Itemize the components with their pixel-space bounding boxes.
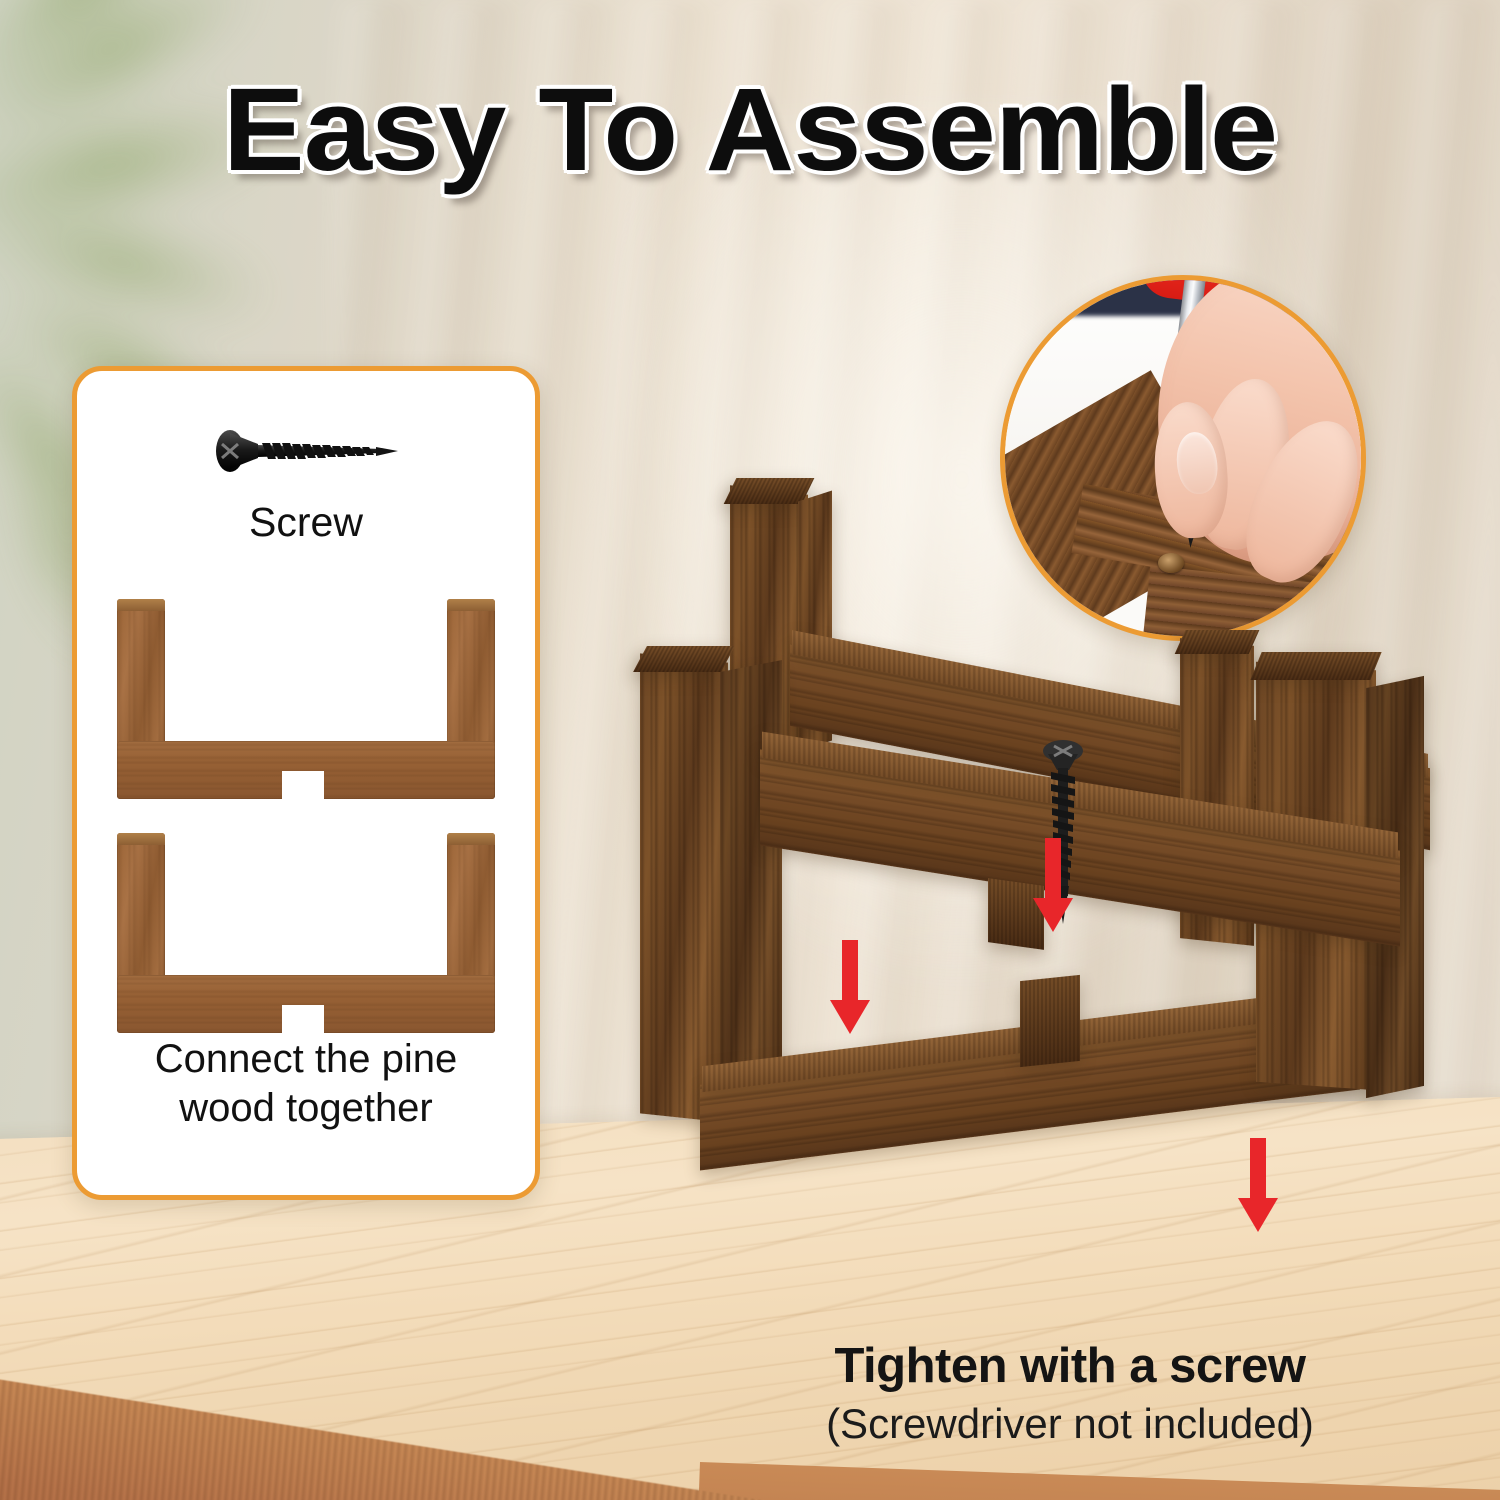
notch [282,771,324,799]
front-right-upright-top [1250,652,1381,680]
parts-card: Screw Conne [72,366,540,1200]
u-bracket-opening-up [117,599,495,799]
screw-label: Screw [77,499,535,546]
page-title: Easy To Assemble [0,62,1500,198]
caption-line-1: Connect the pine [77,1035,535,1084]
front-left-upright [640,653,728,1122]
wood-pieces-group [77,599,535,1033]
footer-caption-sub: (Screwdriver not included) [740,1400,1400,1448]
front-left-upright-inner [720,660,782,1112]
parts-card-caption: Connect the pine wood together [77,1035,535,1133]
screw-icon [206,423,406,484]
notch-tab-lower [1020,975,1080,1067]
assembly-arrow-right [1238,1138,1278,1232]
u-bracket-opening-down [117,833,495,1033]
footer-caption-main: Tighten with a screw [740,1338,1400,1394]
notch [282,1005,324,1033]
caption-line-2: wood together [77,1084,535,1133]
infographic-canvas: Easy To Assemble [0,0,1500,1500]
front-left-upright-top [633,646,735,672]
assembly-arrow-left [830,940,870,1034]
rear-right-upright-top [1175,630,1260,654]
assembly-arrow-center [1033,838,1073,932]
